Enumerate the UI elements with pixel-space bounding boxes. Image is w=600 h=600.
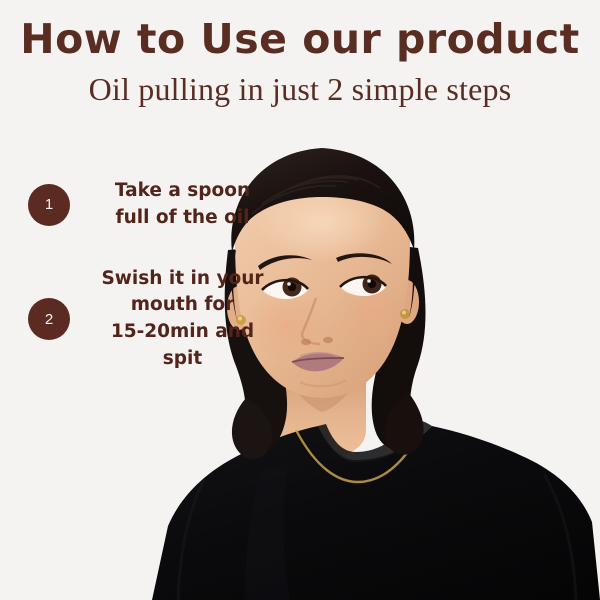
page-subtitle: Oil pulling in just 2 simple steps (0, 63, 600, 108)
step-number-badge-1: 1 (28, 184, 70, 226)
step-number-badge-2: 2 (28, 298, 70, 340)
step-text-2: Swish it in your mouth for 15-20min and … (84, 266, 285, 373)
step-item-2: 2 Swish it in your mouth for 15-20min an… (0, 266, 285, 373)
step-item-1: 1 Take a spoon full of the oil (0, 178, 285, 232)
heading-block: How to Use our product Oil pulling in ju… (0, 0, 600, 108)
black-tshirt (152, 419, 600, 600)
steps-list: 1 Take a spoon full of the oil 2 Swish i… (0, 178, 285, 401)
poster-canvas: How to Use our product Oil pulling in ju… (0, 0, 600, 600)
page-title: How to Use our product (0, 0, 600, 63)
step-text-1: Take a spoon full of the oil (84, 178, 285, 232)
